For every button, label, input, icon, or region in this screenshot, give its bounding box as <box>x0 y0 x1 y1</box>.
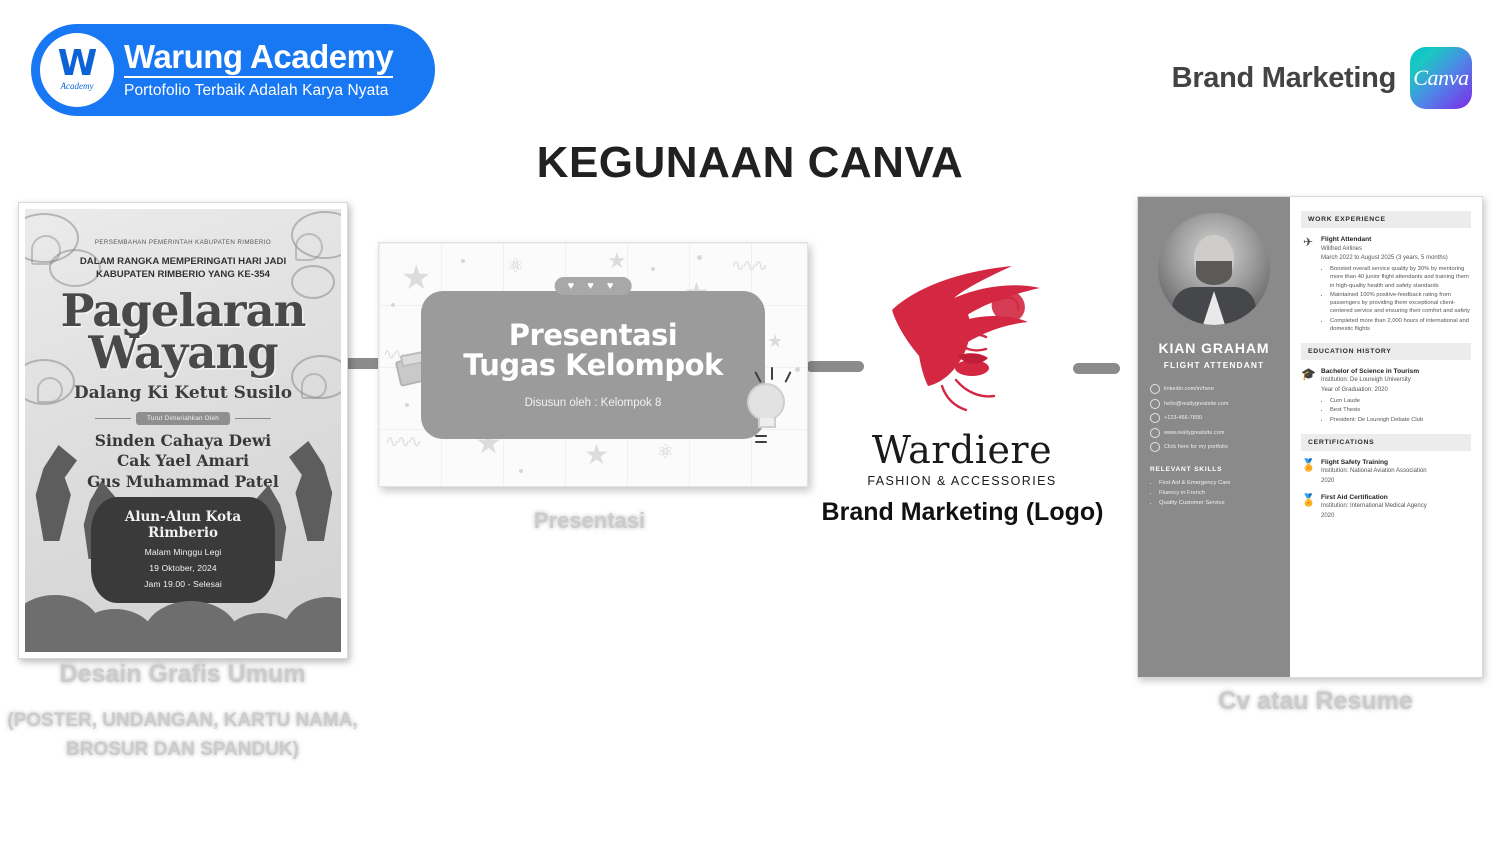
caption-poster: Desain Grafis Umum <box>0 660 365 689</box>
connector-arrow-2 <box>806 361 864 372</box>
cv-work-title: Flight Attendant <box>1321 236 1471 243</box>
logo-subtext: Academy <box>61 81 94 91</box>
cv-education-bullet: Best Thesis <box>1330 406 1471 414</box>
page-title: KEGUNAAN CANVA <box>0 138 1500 188</box>
presentation-subtitle: Disusun oleh : Kelompok 8 <box>421 397 765 409</box>
avatar <box>1158 213 1270 325</box>
connector-arrow-3 <box>1073 363 1120 374</box>
cv-skill-item: Fluency in French <box>1159 490 1278 496</box>
cv-certification-entry: 🏅 First Aid Certification Institution: I… <box>1301 494 1471 520</box>
cv-certification-title: Flight Safety Training <box>1321 459 1471 466</box>
star-icon: ★ <box>607 251 627 273</box>
brand-logo-card: Wardiere FASHION & ACCESSORIES <box>862 252 1062 482</box>
globe-icon <box>1150 428 1160 438</box>
atom-icon: ⚛ <box>657 441 674 464</box>
cv-certification-entry: 🏅 Flight Safety Training Institution: Na… <box>1301 459 1471 485</box>
avatar-beard <box>1196 261 1232 285</box>
cv-contact-row: +123-456-7890 <box>1150 413 1278 423</box>
poster-detail-night: Malam Minggu Legi <box>99 547 267 557</box>
cv-contact-text: hello@reallygreatsite.com <box>1164 401 1229 407</box>
cv-education-bullet: President: De Loureigh Debate Club <box>1330 416 1471 424</box>
poster-performer: Sinden Cahaya Dewi <box>25 432 341 451</box>
poster-dalang: Dalang Ki Ketut Susilo <box>25 383 341 403</box>
header-right: Brand Marketing Canva <box>1172 47 1472 109</box>
cv-contact-row: Click here for my portfolio <box>1150 442 1278 452</box>
cv-certification-institution: Institution: International Medical Agenc… <box>1321 502 1471 510</box>
wardiere-woman-hat-icon <box>862 252 1062 422</box>
poster-turut-row: Turut Dimeriahkan Oleh <box>25 412 341 425</box>
dot-decor <box>795 367 800 372</box>
caption-presentation: Presentasi <box>462 508 717 534</box>
presentation-slide-card: ★ ★ ★ ★ ★ ★ ∿∿∿ ∿∿∿ ∿∿ ⚛ ⚛ ♥ ♥ ♥ Present… <box>378 242 808 487</box>
poster-presented-by: PERSEMBAHAN PEMERINTAH KABUPATEN RIMBERI… <box>25 239 341 246</box>
cv-certifications-heading: CERTIFICATIONS <box>1301 434 1471 451</box>
cv-main-column: WORK EXPERIENCE ✈ Flight Attendant Wilif… <box>1290 197 1482 677</box>
cv-contact-row: www.reallygreatsite.com <box>1150 428 1278 438</box>
lightbulb-icon <box>747 383 785 421</box>
logo-letter: W <box>58 49 97 80</box>
caption-brand-marketing: Brand Marketing (Logo) <box>805 494 1120 530</box>
email-icon <box>1150 399 1160 409</box>
cv-work-dates: March 2022 to August 2025 (3 years, 5 mo… <box>1321 254 1471 262</box>
star-icon: ★ <box>584 441 609 469</box>
cv-contact-row: hello@reallygreatsite.com <box>1150 399 1278 409</box>
phone-icon <box>1150 413 1160 423</box>
dot-decor <box>461 259 465 263</box>
cv-entry-body: First Aid Certification Institution: Int… <box>1321 494 1471 520</box>
cv-work-bullet: Completed more than 2,000 hours of inter… <box>1330 317 1471 333</box>
dot-decor <box>697 255 702 260</box>
poster-occasion: DALAM RANGKA MEMPERINGATI HARI JADI KABU… <box>25 256 341 282</box>
cv-sidebar: KIAN GRAHAM FLIGHT ATTENDANT linkedin.co… <box>1138 197 1290 677</box>
poster-hills-decor <box>25 569 341 652</box>
poster-venue: Alun-Alun Kota Rimberio <box>99 510 267 541</box>
linkedin-icon <box>1150 384 1160 394</box>
cv-contact-text: linkedin.com/in/here <box>1164 386 1214 392</box>
cv-person-role: FLIGHT ATTENDANT <box>1150 360 1278 370</box>
cv-resume-card: KIAN GRAHAM FLIGHT ATTENDANT linkedin.co… <box>1137 196 1483 678</box>
cv-work-entry: ✈ Flight Attendant Wilifred Airlines Mar… <box>1301 236 1471 334</box>
cv-contact-text: Click here for my portfolio <box>1164 444 1228 450</box>
caption-cv-resume: Cv atau Resume <box>1148 687 1483 716</box>
poster-artwork: PERSEMBAHAN PEMERINTAH KABUPATEN RIMBERI… <box>25 209 341 652</box>
dot-decor <box>519 469 523 473</box>
bulb-ray <box>755 435 767 437</box>
cv-work-bullet: Maintained 100% positive-feedback rating… <box>1330 291 1471 316</box>
presentation-panel: ♥ ♥ ♥ Presentasi Tugas Kelompok Disusun … <box>421 291 765 439</box>
poster-design-card: PERSEMBAHAN PEMERINTAH KABUPATEN RIMBERI… <box>18 202 348 659</box>
star-icon: ★ <box>401 261 431 295</box>
logo-brand-name: Wardiere <box>862 431 1062 469</box>
cv-education-title: Bachelor of Science in Tourism <box>1321 368 1471 375</box>
cv-education-entry: 🎓 Bachelor of Science in Tourism Institu… <box>1301 368 1471 425</box>
poster-performer: Gus Muhammad Patel <box>25 473 341 492</box>
brand-tagline: Portofolio Terbaik Adalah Karya Nyata <box>124 82 393 100</box>
poster-turut-label: Turut Dimeriahkan Oleh <box>136 412 230 425</box>
cv-person-name: KIAN GRAHAM <box>1150 340 1278 356</box>
cv-contact-text: +123-456-7890 <box>1164 415 1202 421</box>
poster-venue-line2: Rimberio <box>99 526 267 542</box>
cv-contact-list: linkedin.com/in/here hello@reallygreatsi… <box>1150 384 1278 452</box>
bulb-ray <box>771 367 773 380</box>
divider-line <box>95 418 131 419</box>
cv-certification-year: 2020 <box>1321 512 1471 520</box>
brand-text-block: Warung Academy Portofolio Terbaik Adalah… <box>124 40 393 100</box>
hearts-tab: ♥ ♥ ♥ <box>555 277 632 295</box>
warung-academy-badge: W Academy Warung Academy Portofolio Terb… <box>31 24 435 116</box>
cv-education-bullet: Cum Laude <box>1330 397 1471 405</box>
caption-poster-sub: (POSTER, UNDANGAN, KARTU NAMA, BROSUR DA… <box>0 706 365 765</box>
star-icon: ★ <box>767 333 783 351</box>
cv-skills-heading: RELEVANT SKILLS <box>1150 466 1278 473</box>
cv-education-bullets: Cum Laude Best Thesis President: De Lour… <box>1321 397 1471 424</box>
poster-title-line2: Wayang <box>25 332 341 374</box>
poster-venue-line1: Alun-Alun Kota <box>99 510 267 526</box>
cv-education-heading: EDUCATION HISTORY <box>1301 343 1471 360</box>
cv-contact-text: www.reallygreatsite.com <box>1164 430 1224 436</box>
cv-education-year: Year of Graduation: 2020 <box>1321 386 1471 394</box>
canva-logo-icon: Canva <box>1410 47 1472 109</box>
dot-decor <box>391 303 395 307</box>
cv-entry-body: Bachelor of Science in Tourism Instituti… <box>1321 368 1471 425</box>
cv-work-heading: WORK EXPERIENCE <box>1301 211 1471 228</box>
zigzag-icon: ∿∿∿ <box>731 257 765 274</box>
cv-education-institution: Institution: De Loureigh University <box>1321 376 1471 384</box>
graduation-cap-icon: 🎓 <box>1301 368 1315 425</box>
zigzag-icon: ∿∿∿ <box>385 433 419 450</box>
award-ribbon-icon: 🏅 <box>1301 494 1315 520</box>
presentation-heading-line1: Presentasi <box>421 321 765 351</box>
warung-academy-logo-icon: W Academy <box>40 33 114 107</box>
poster-occasion-line2: KABUPATEN RIMBERIO YANG KE-354 <box>25 269 341 282</box>
dot-decor <box>405 403 409 407</box>
logo-brand-tagline: FASHION & ACCESSORIES <box>862 474 1062 488</box>
atom-icon: ⚛ <box>507 255 524 278</box>
divider-line <box>235 418 271 419</box>
cv-contact-row: linkedin.com/in/here <box>1150 384 1278 394</box>
cv-certification-title: First Aid Certification <box>1321 494 1471 501</box>
cv-work-bullets: Boosted overall service quality by 30% b… <box>1321 265 1471 333</box>
cv-entry-body: Flight Attendant Wilifred Airlines March… <box>1321 236 1471 334</box>
bulb-ray <box>755 441 767 443</box>
presentation-heading-line2: Tugas Kelompok <box>421 351 765 381</box>
cv-certification-institution: Institution: National Aviation Associati… <box>1321 467 1471 475</box>
airplane-icon: ✈ <box>1301 236 1315 334</box>
link-icon <box>1150 442 1160 452</box>
brand-title: Warung Academy <box>124 40 393 78</box>
award-ribbon-icon: 🏅 <box>1301 459 1315 485</box>
hill-shape <box>283 597 341 652</box>
cv-skill-item: Quality Customer Service <box>1159 500 1278 506</box>
cv-certification-year: 2020 <box>1321 477 1471 485</box>
header-topic-label: Brand Marketing <box>1172 62 1396 95</box>
canva-logo-text: Canva <box>1413 65 1468 91</box>
poster-occasion-line1: DALAM RANGKA MEMPERINGATI HARI JADI <box>25 256 341 269</box>
cv-work-company: Wilifred Airlines <box>1321 245 1471 253</box>
cv-entry-body: Flight Safety Training Institution: Nati… <box>1321 459 1471 485</box>
cv-skills-list: First Aid & Emergency Care Fluency in Fr… <box>1150 480 1278 506</box>
cv-work-bullet: Boosted overall service quality by 30% b… <box>1330 265 1471 290</box>
dot-decor <box>651 267 655 271</box>
cv-skill-item: First Aid & Emergency Care <box>1159 480 1278 486</box>
